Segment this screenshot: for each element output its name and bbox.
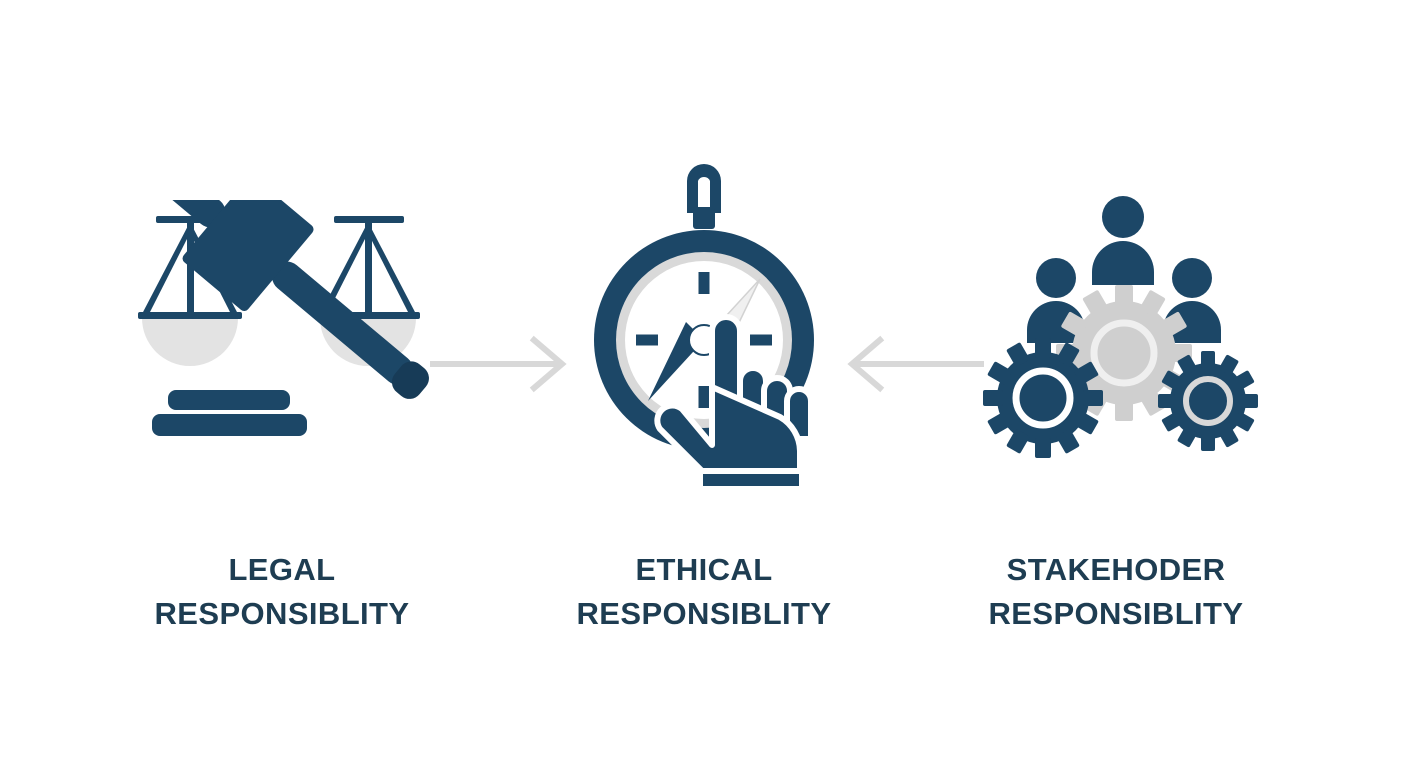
label-line-1: LEGAL [155,548,410,592]
label-line-1: ETHICAL [577,548,832,592]
label-line-1: STAKEHODER [989,548,1244,592]
column-stakeholder-label: STAKEHODER RESPONSIBLITY [989,548,1244,636]
column-ethical: ETHICAL RESPONSIBLITY [514,150,894,670]
gavel-and-scales-icon [122,150,442,500]
column-stakeholder: STAKEHODER RESPONSIBLITY [926,150,1306,670]
compass-with-pointing-hand-icon [544,150,864,500]
column-legal: LEGAL RESPONSIBLITY [92,150,472,670]
label-line-2: RESPONSIBLITY [577,592,832,636]
label-line-2: RESPONSIBLITY [155,592,410,636]
label-line-2: RESPONSIBLITY [989,592,1244,636]
column-ethical-label: ETHICAL RESPONSIBLITY [577,548,832,636]
people-and-gears-icon [956,150,1276,500]
column-legal-label: LEGAL RESPONSIBLITY [155,548,410,636]
infographic-canvas: LEGAL RESPONSIBLITY [0,0,1408,768]
